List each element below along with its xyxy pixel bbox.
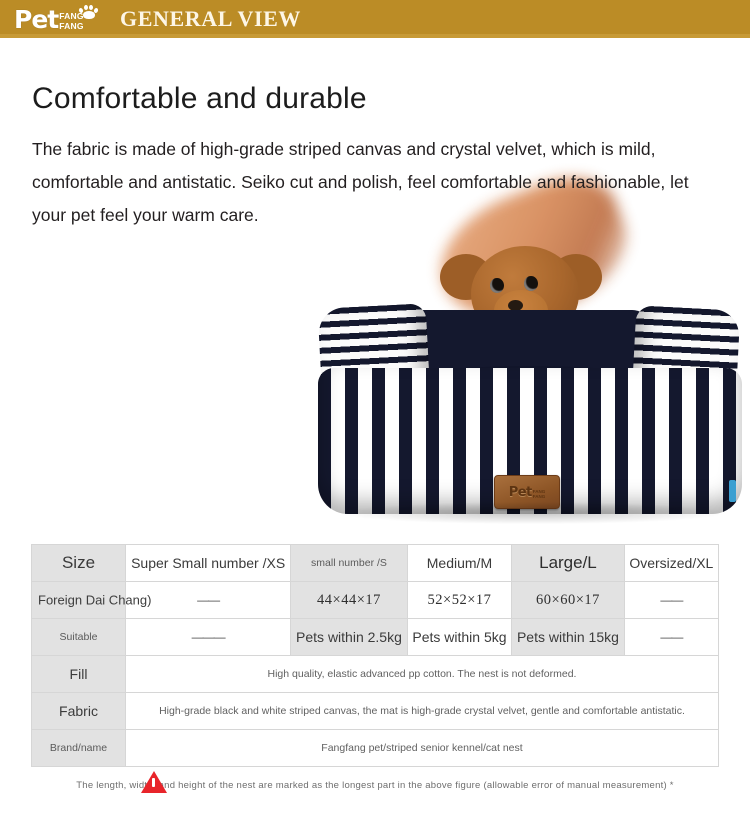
cell-size-l: Large/L: [512, 545, 624, 582]
cell-dim-m: 52×52×17: [407, 582, 512, 619]
main-content: Comfortable and durable The fabric is ma…: [0, 82, 750, 232]
cell-suitable-xl: ——: [624, 619, 718, 656]
bear-eye-left: [490, 278, 504, 293]
logo-subbrand-line2: FANG: [59, 22, 83, 32]
footnote-text: The length, width, and height of the nes…: [0, 780, 750, 791]
table-row: Brand/name Fangfang pet/striped senior k…: [32, 730, 719, 767]
page-header-bar: Pet FANG FANG GENERAL VIEW: [0, 0, 750, 38]
table-row: Fill High quality, elastic advanced pp c…: [32, 656, 719, 693]
section-headline: Comfortable and durable: [32, 82, 720, 115]
cell-fabric-value: High-grade black and white striped canva…: [126, 693, 719, 730]
row-label-brand: Brand/name: [32, 730, 126, 767]
logo-brand-text: Pet: [14, 7, 58, 32]
cell-fill-value: High quality, elastic advanced pp cotton…: [126, 656, 719, 693]
cell-size-m: Medium/M: [407, 545, 512, 582]
table-row: Suitable ——— Pets within 2.5kg Pets with…: [32, 619, 719, 656]
specification-table: Size Super Small number /XS small number…: [31, 544, 719, 767]
cell-suitable-l: Pets within 15kg: [512, 619, 624, 656]
row-label-fabric: Fabric: [32, 693, 126, 730]
cell-dim-l: 60×60×17: [512, 582, 624, 619]
cell-size-xl: Oversized/XL: [624, 545, 718, 582]
row-label-dimensions: Foreign Dai Chang): [32, 582, 126, 619]
cell-brand-value: Fangfang pet/striped senior kennel/cat n…: [126, 730, 719, 767]
table-row: Size Super Small number /XS small number…: [32, 545, 719, 582]
brand-logo: Pet FANG FANG: [14, 4, 102, 34]
row-label-size: Size: [32, 545, 126, 582]
cell-dim-s: 44×44×17: [291, 582, 407, 619]
cell-dim-xl: ——: [624, 582, 718, 619]
cell-size-xs: Super Small number /XS: [126, 545, 291, 582]
table-row: Fabric High-grade black and white stripe…: [32, 693, 719, 730]
label-subbrand-line2: FANG: [533, 494, 546, 499]
blue-side-tag: [729, 480, 736, 502]
bed-drop-shadow: [342, 502, 722, 524]
product-image: Pet FANG FANG: [318, 196, 748, 526]
bear-eye-right: [524, 276, 538, 291]
row-label-fill: Fill: [32, 656, 126, 693]
cell-suitable-s: Pets within 2.5kg: [291, 619, 407, 656]
specification-table-body: Size Super Small number /XS small number…: [32, 545, 719, 767]
bed-front-panel: Pet FANG FANG: [318, 368, 742, 514]
cell-size-s: small number /S: [291, 545, 407, 582]
striped-pet-bed: Pet FANG FANG: [318, 304, 742, 520]
section-paragraph: The fabric is made of high-grade striped…: [32, 133, 692, 232]
label-subbrand: FANG FANG: [533, 489, 546, 499]
cell-suitable-m: Pets within 5kg: [407, 619, 512, 656]
table-row: Foreign Dai Chang) —— 44×44×17 52×52×17 …: [32, 582, 719, 619]
label-brand-text: Pet: [509, 485, 532, 500]
warning-triangle-icon: [141, 771, 167, 793]
row-label-dimensions-text: Foreign Dai Chang): [38, 593, 151, 608]
page-title: GENERAL VIEW: [120, 6, 301, 32]
cell-suitable-xs: ———: [126, 619, 291, 656]
paw-print-icon: [78, 4, 100, 18]
bed-back-bolster: [402, 310, 652, 372]
row-label-suitable: Suitable: [32, 619, 126, 656]
